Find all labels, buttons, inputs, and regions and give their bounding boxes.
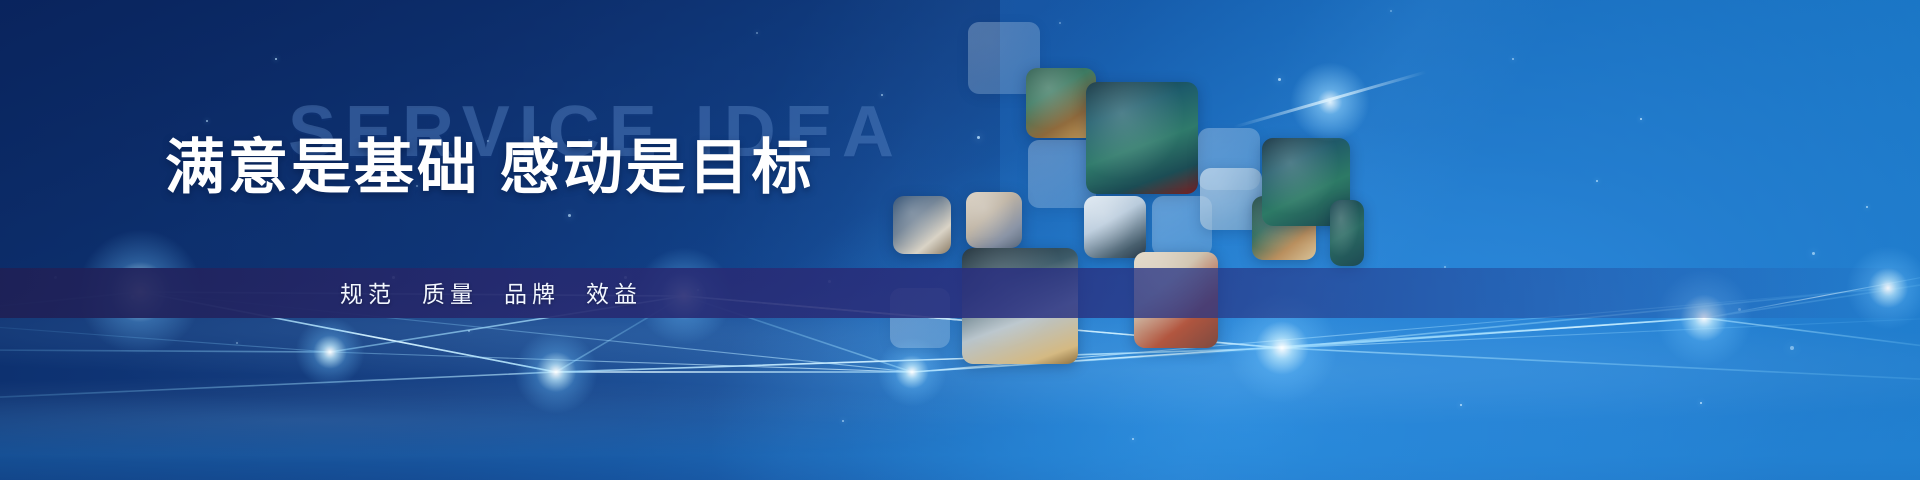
service-idea-banner: SERVICE IDEA 满意是基础 感动是目标 规范质量品牌效益 — [0, 0, 1920, 480]
photo-highlight — [893, 196, 951, 254]
subtitle-keyword: 品牌 — [504, 281, 560, 307]
collage-photo-endoscopy-procedure — [1084, 196, 1146, 258]
subtitle-keyword: 质量 — [422, 281, 478, 307]
headline-block: SERVICE IDEA 满意是基础 感动是目标 — [0, 0, 900, 480]
collage-photo-doctor-with-patient-child — [893, 196, 951, 254]
collage-photo-surgeon-closeup-operating — [1086, 82, 1198, 194]
subtitle-bar — [0, 268, 1920, 318]
subtitle-keyword: 规范 — [340, 281, 396, 307]
photo-highlight — [966, 192, 1022, 248]
photo-highlight — [1086, 82, 1198, 194]
photo-highlight — [1330, 200, 1364, 266]
photo-highlight — [1084, 196, 1146, 258]
page-title: 满意是基础 感动是目标 — [165, 133, 815, 203]
lens-flare-icon — [1290, 62, 1370, 142]
subtitle-keyword: 效益 — [586, 281, 642, 307]
subtitle-keywords: 规范质量品牌效益 — [340, 275, 642, 309]
collage-photo-surgeon-side-view-right — [1330, 200, 1364, 266]
collage-photo-nurse-with-patient-bedside — [966, 192, 1022, 248]
